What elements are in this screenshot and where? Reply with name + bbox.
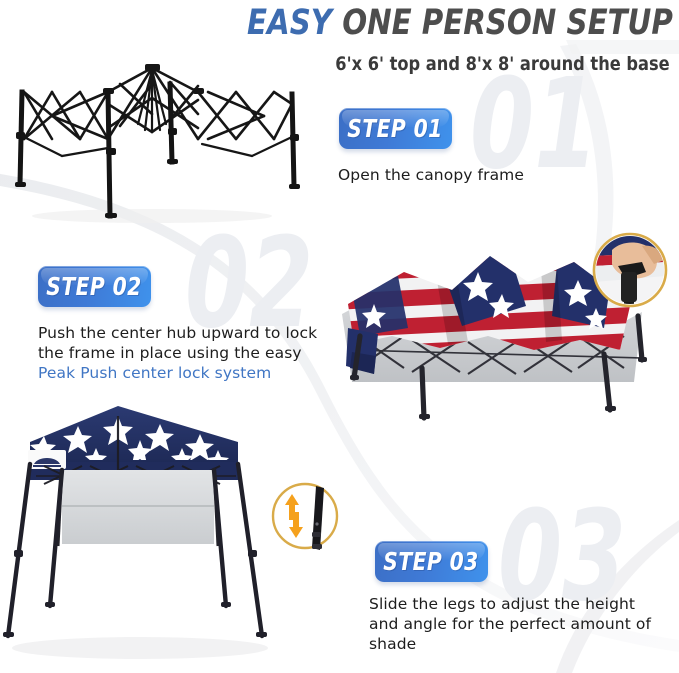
watermark-03: 03 <box>498 508 626 606</box>
step-02-text-main: Push the center hub upward to lock the f… <box>38 324 317 362</box>
infographic-canvas: EASY ONE PERSON SETUP 6'x 6' top and 8'x… <box>0 0 679 673</box>
step-03-description: Slide the legs to adjust the height and … <box>369 594 659 654</box>
step-01-badge-label: STEP 01 <box>348 114 443 143</box>
collapsed-canopy-frame-illustration <box>2 44 314 230</box>
leg-height-adjust-icon <box>266 472 344 560</box>
watermark-01: 01 <box>470 76 598 174</box>
brand-logo-patch <box>28 450 66 469</box>
step-01-description: Open the canopy frame <box>338 165 638 185</box>
page-title: EASY ONE PERSON SETUP <box>240 2 679 44</box>
assembled-canopy-illustration <box>0 398 292 673</box>
hand-push-center-hub-inset <box>594 234 666 306</box>
flag-canopy-illustration <box>312 232 679 422</box>
step-02-badge-label: STEP 02 <box>47 272 142 301</box>
step-03-badge-label: STEP 03 <box>384 547 479 576</box>
step-03-text-main: Slide the legs to adjust the height and … <box>369 595 651 653</box>
step-01-text-main: Open the canopy frame <box>338 166 524 184</box>
step-03-badge: STEP 03 <box>375 541 488 582</box>
watermark-02: 02 <box>185 235 313 333</box>
step-01-badge: STEP 01 <box>339 108 452 149</box>
step-02-description: Push the center hub upward to lock the f… <box>38 323 328 383</box>
title-rest: ONE PERSON SETUP <box>332 3 673 43</box>
step-02-text-highlight: Peak Push center lock system <box>38 364 271 382</box>
step-02-badge: STEP 02 <box>38 266 151 307</box>
title-accent: EASY <box>247 3 332 43</box>
